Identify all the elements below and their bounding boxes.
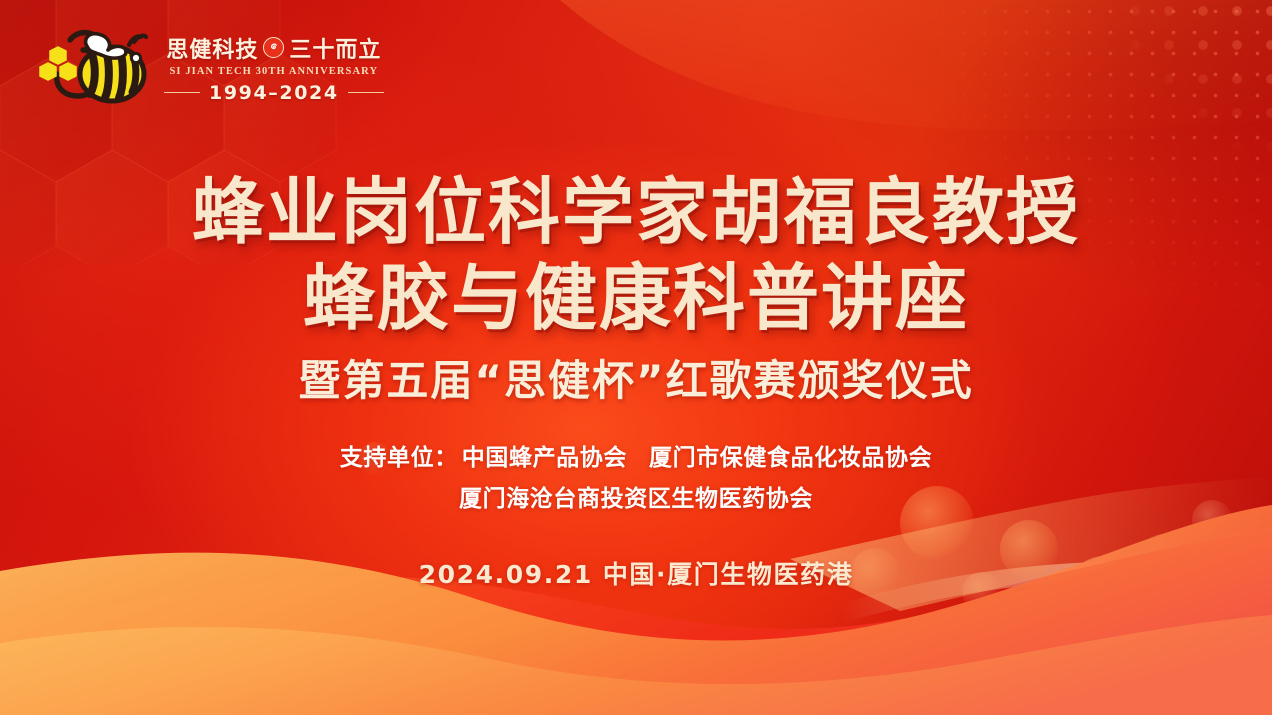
event-date: 2024.09.21 — [419, 560, 593, 589]
years-label: 1994–2024 — [209, 82, 339, 104]
support-label: 支持单位： — [340, 445, 458, 471]
brand-logo: 思健科技 三十而立 SI JIAN TECH 30TH ANNIVERSARY … — [26, 18, 384, 114]
event-banner: 思健科技 三十而立 SI JIAN TECH 30TH ANNIVERSARY … — [0, 0, 1272, 715]
sijian-spiral-s-icon — [263, 37, 284, 58]
page-title-line1: 蜂业岗位科学家胡福良教授 — [192, 176, 1080, 248]
page-subtitle: 暨第五届“思健杯”红歌赛颁奖仪式 — [298, 358, 973, 404]
support-org-1: 中国蜂产品协会 — [462, 445, 627, 471]
brand-name-cn: 思健科技 — [166, 32, 258, 64]
rule-right — [348, 92, 384, 94]
support-line-1: 支持单位：中国蜂产品协会厦门市保健食品化妆品协会 — [340, 438, 932, 472]
support-organizations: 支持单位：中国蜂产品协会厦门市保健食品化妆品协会 厦门海沧台商投资区生物医药协会 — [340, 438, 932, 513]
event-date-venue: 2024.09.21中国·厦门生物医药港 — [419, 555, 854, 591]
support-org-2: 厦门市保健食品化妆品协会 — [649, 445, 932, 471]
support-line-2: 厦门海沧台商投资区生物医药协会 — [459, 479, 813, 513]
event-venue: 中国·厦门生物医药港 — [603, 560, 854, 589]
brand-name-en: SI JIAN TECH 30TH ANNIVERSARY — [169, 66, 378, 77]
page-title-line2: 蜂胶与健康科普讲座 — [303, 262, 969, 334]
bee-30-honeycomb-icon — [26, 18, 158, 114]
banner-content: 蜂业岗位科学家胡福良教授 蜂胶与健康科普讲座 暨第五届“思健杯”红歌赛颁奖仪式 … — [0, 176, 1272, 591]
rule-left — [164, 92, 200, 94]
bee-body — [80, 34, 146, 101]
brand-wordmark: 思健科技 三十而立 SI JIAN TECH 30TH ANNIVERSARY … — [164, 29, 384, 104]
anniversary-years: 1994–2024 — [164, 82, 384, 104]
brand-slogan-cn: 三十而立 — [289, 32, 381, 64]
